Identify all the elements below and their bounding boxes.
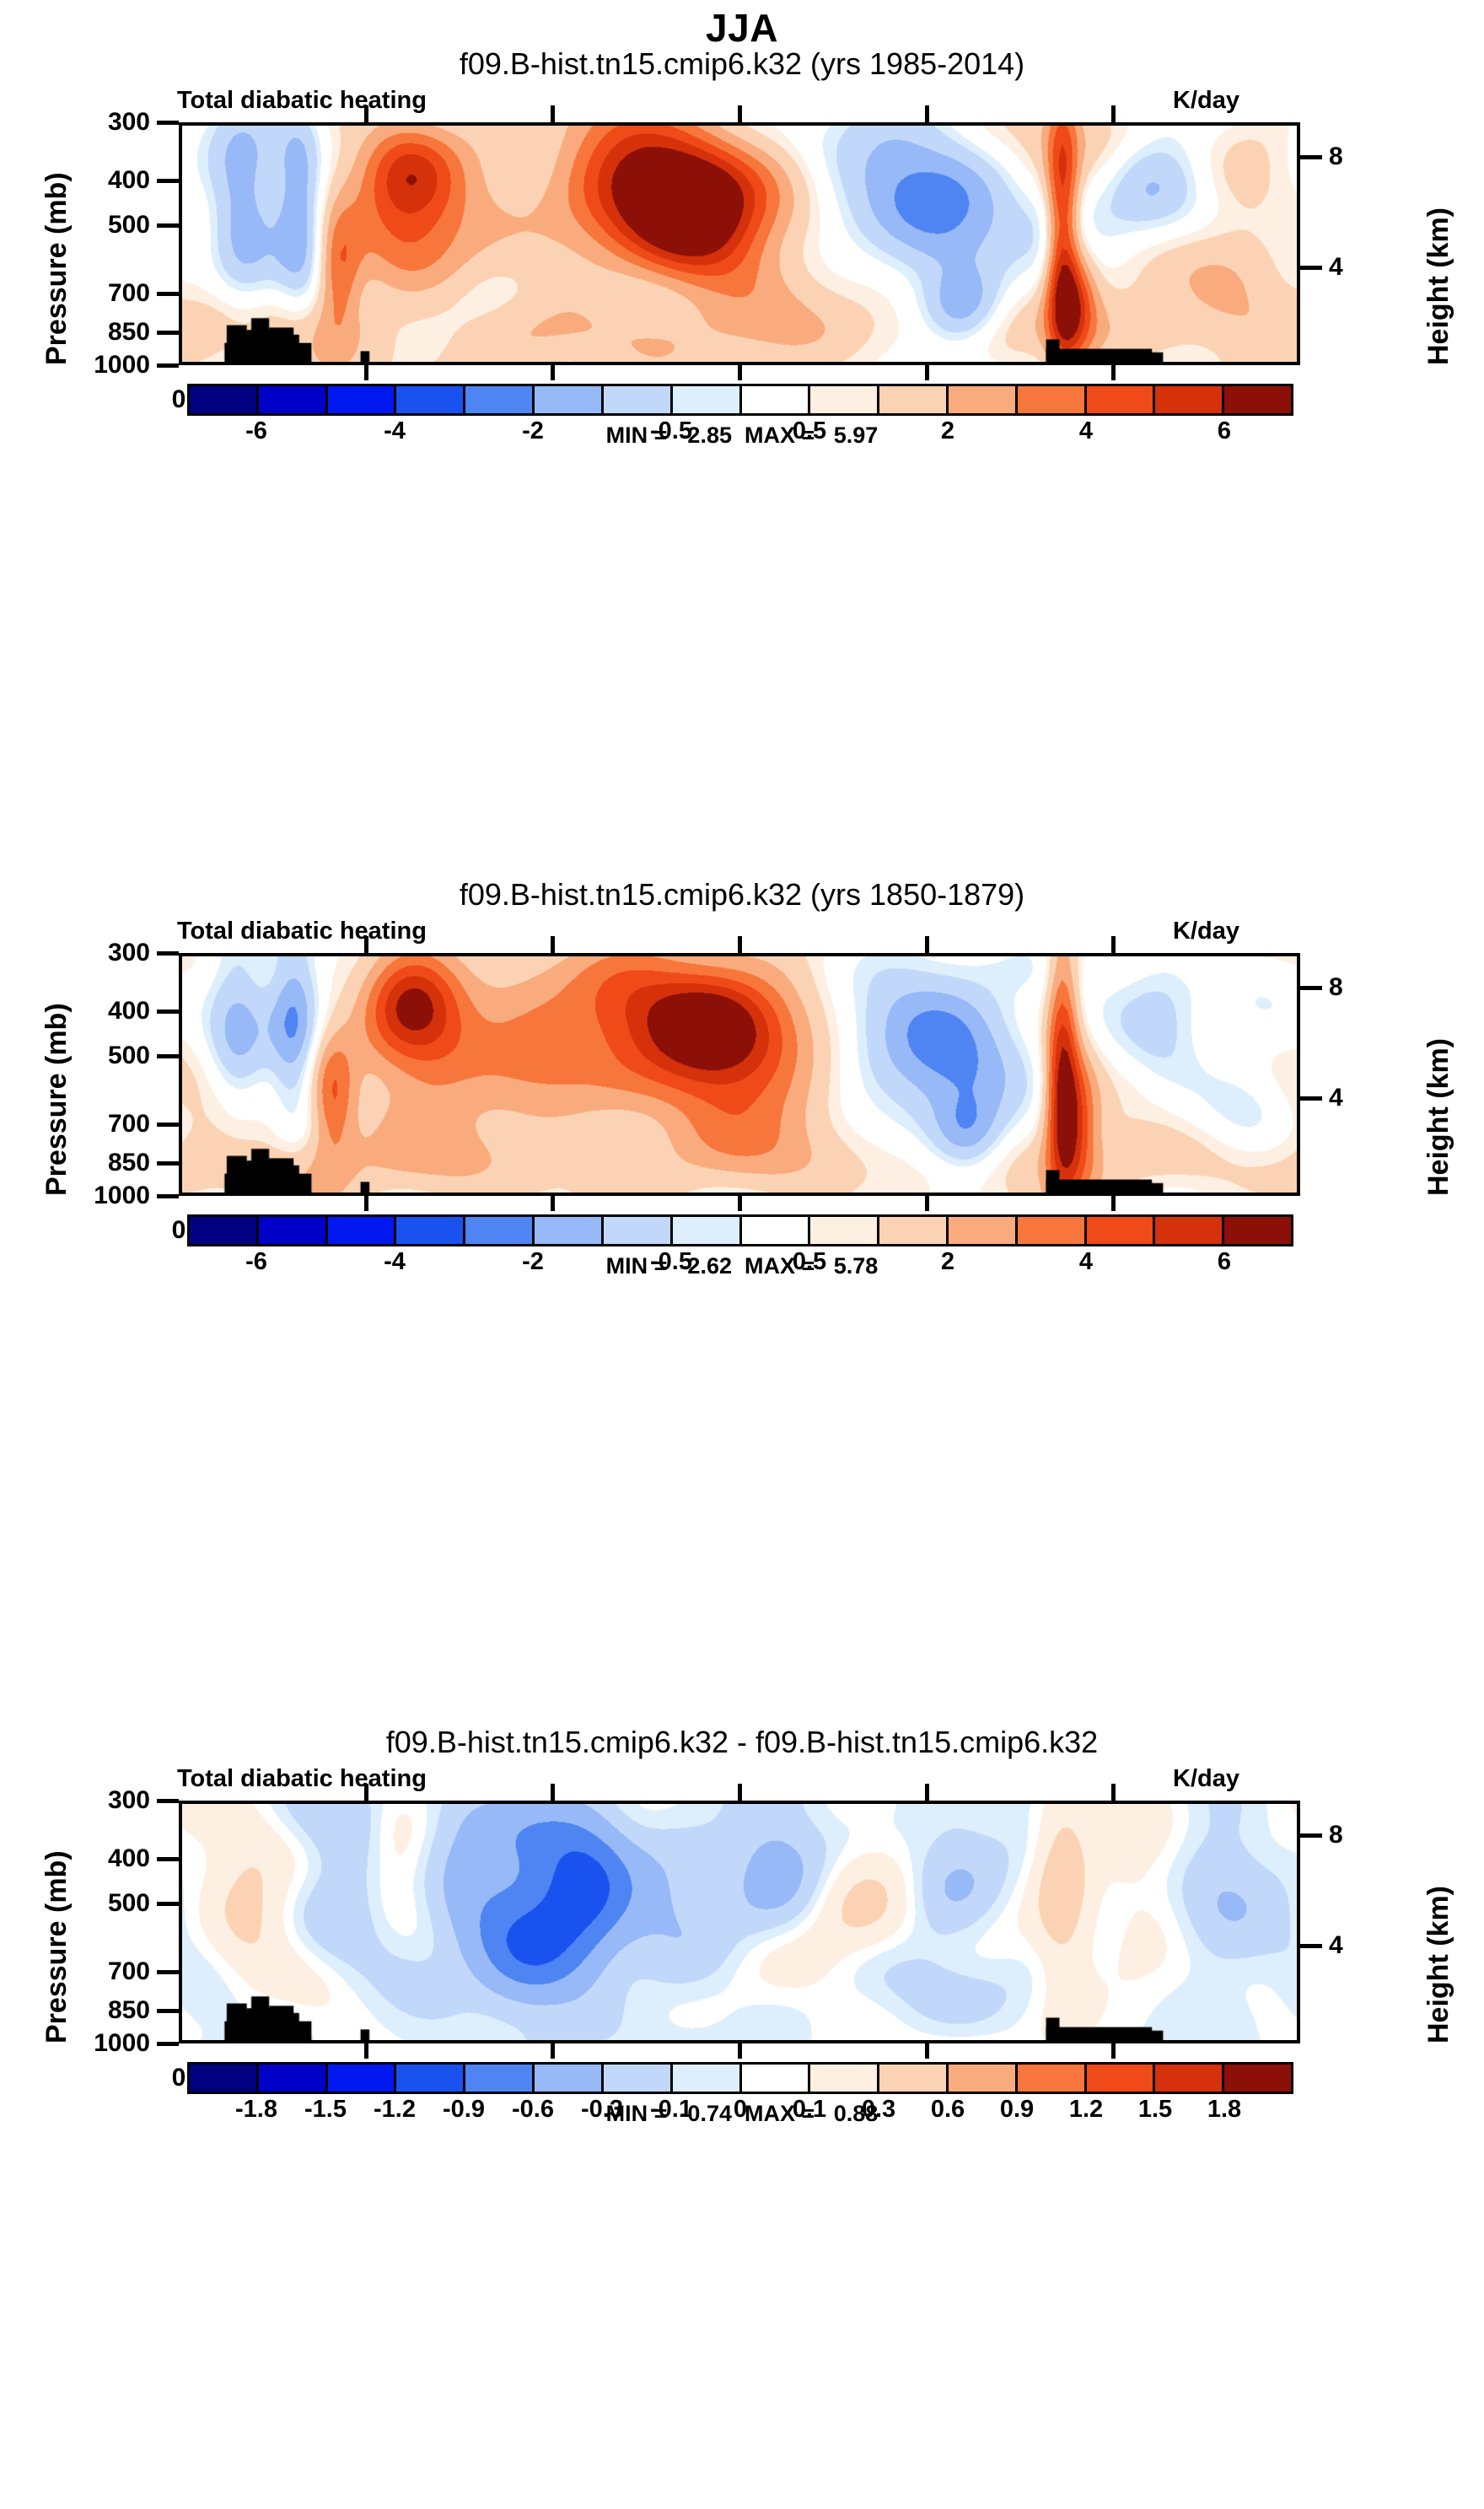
colorbar-tick-label: -4 — [384, 417, 406, 445]
units-label: K/day — [1173, 918, 1239, 945]
colorbar: -6-4-2-0.50.5246 — [187, 384, 1293, 416]
colorbar: -1.8-1.5-1.2-0.9-0.6-0.3-0.100.10.30.60.… — [187, 2062, 1293, 2094]
y-tick-label: 500 — [108, 1042, 150, 1070]
colorbar-tick-label: 0 — [734, 2096, 747, 2124]
y-tick-mark — [157, 1194, 179, 1198]
y-tick-label-right: 4 — [1329, 1931, 1343, 1960]
colorbar-cell — [742, 386, 811, 413]
contour-plot — [179, 1801, 1300, 2043]
colorbar-cell — [1155, 1217, 1224, 1244]
colorbar-cell — [190, 386, 259, 413]
colorbar-cell — [465, 386, 535, 413]
x-tick-mark-top — [925, 1784, 929, 1801]
x-tick-mark-bottom — [738, 2043, 742, 2059]
y-tick-mark-right — [1300, 1096, 1322, 1101]
y-tick-label-right: 8 — [1329, 143, 1343, 171]
colorbar-cell — [604, 1217, 673, 1244]
colorbar-cell — [742, 1217, 811, 1244]
y-axis-title-left: Pressure (mb) — [40, 172, 73, 365]
colorbar-tick-label: -0.9 — [443, 2096, 485, 2124]
colorbar-tick-label: -0.3 — [581, 2096, 623, 2124]
colorbar-cell — [465, 1217, 535, 1244]
figure-title: JJA — [0, 5, 1484, 51]
colorbar-cell — [259, 2065, 328, 2092]
y-tick-mark-right — [1300, 986, 1322, 990]
colorbar-cell — [259, 386, 328, 413]
contour-field — [182, 1804, 1297, 2040]
x-tick-mark-bottom — [364, 1196, 368, 1211]
colorbar-cell — [949, 386, 1018, 413]
units-label: K/day — [1173, 87, 1239, 115]
x-tick-mark-bottom — [551, 365, 555, 380]
y-tick-label: 400 — [108, 166, 150, 195]
contour-field — [182, 956, 1297, 1193]
y-axis-title-right: Height (km) — [1422, 207, 1455, 365]
x-tick-mark-top — [1111, 936, 1116, 953]
colorbar-tick-label: -0.5 — [650, 417, 692, 445]
colorbar: -6-4-2-0.50.5246 — [187, 1214, 1293, 1246]
x-tick-label: 0 — [172, 385, 186, 414]
colorbar-tick-label: -1.2 — [374, 2096, 416, 2124]
x-tick-label: 0 — [172, 1216, 186, 1245]
colorbar-cell — [1224, 386, 1291, 413]
y-tick-mark — [157, 331, 179, 335]
x-tick-mark-top — [925, 936, 929, 953]
field-label: Total diabatic heating — [177, 87, 427, 115]
y-tick-label: 500 — [108, 211, 150, 240]
colorbar-cell — [673, 1217, 742, 1244]
y-tick-label: 700 — [108, 1110, 150, 1139]
panel-title: f09.B-hist.tn15.cmip6.k32 (yrs 1850-1879… — [0, 877, 1484, 913]
contour-plot — [179, 122, 1300, 365]
x-tick-mark-top — [364, 105, 368, 122]
colorbar-cell — [879, 386, 949, 413]
colorbar-cell — [810, 1217, 879, 1244]
x-tick-mark-bottom — [551, 2043, 555, 2059]
colorbar-cell — [673, 2065, 742, 2092]
x-tick-mark-bottom — [551, 1196, 555, 1211]
y-tick-label: 1000 — [94, 351, 150, 380]
x-tick-mark-top — [1111, 1784, 1116, 1801]
colorbar-cell — [190, 1217, 259, 1244]
contour-plot — [179, 953, 1300, 1196]
y-tick-mark — [157, 292, 179, 296]
colorbar-tick-label: 6 — [1218, 417, 1231, 445]
colorbar-cell — [535, 386, 604, 413]
colorbar-tick-label: -1.8 — [235, 2096, 277, 2124]
y-tick-label: 300 — [108, 1786, 150, 1815]
colorbar-cell — [810, 2065, 879, 2092]
x-tick-mark-top — [551, 1784, 555, 1801]
colorbar-tick-label: 0.1 — [793, 2096, 826, 2124]
colorbar-cell — [190, 2065, 259, 2092]
x-tick-mark-bottom — [925, 2043, 929, 2059]
colorbar-cell — [328, 1217, 397, 1244]
y-tick-label: 850 — [108, 1996, 150, 2025]
y-tick-mark-right — [1300, 266, 1322, 270]
panel-title: f09.B-hist.tn15.cmip6.k32 - f09.B-hist.t… — [0, 1725, 1484, 1760]
y-tick-mark-right — [1300, 1944, 1322, 1948]
colorbar-cell — [879, 1217, 949, 1244]
colorbar-cell — [465, 2065, 535, 2092]
y-tick-label: 400 — [108, 1844, 150, 1873]
colorbar-tick-label: 1.5 — [1138, 2096, 1172, 2124]
colorbar-cell — [328, 386, 397, 413]
contour-field — [182, 126, 1297, 362]
colorbar-tick-label: -2 — [522, 417, 544, 445]
y-tick-label: 1000 — [94, 2029, 150, 2058]
colorbar-cell — [1224, 2065, 1291, 2092]
y-tick-mark — [157, 1902, 179, 1906]
y-tick-mark — [157, 223, 179, 228]
y-tick-label: 1000 — [94, 1182, 150, 1210]
colorbar-tick-label: 4 — [1079, 417, 1093, 445]
colorbar-cell — [673, 386, 742, 413]
y-axis-title-left: Pressure (mb) — [40, 1003, 73, 1196]
colorbar-cell — [259, 1217, 328, 1244]
colorbar-cell — [535, 2065, 604, 2092]
x-tick-mark-bottom — [364, 2043, 368, 2059]
colorbar-cell — [1018, 2065, 1087, 2092]
colorbar-cell — [949, 1217, 1018, 1244]
y-tick-mark — [157, 1054, 179, 1058]
colorbar-tick-label: 0.5 — [793, 1248, 826, 1276]
x-tick-mark-top — [551, 936, 555, 953]
y-tick-mark — [157, 363, 179, 368]
colorbar-cell — [1087, 1217, 1156, 1244]
y-tick-label-right: 4 — [1329, 1084, 1343, 1112]
y-tick-mark — [157, 951, 179, 956]
colorbar-cell — [1018, 386, 1087, 413]
x-tick-mark-bottom — [925, 1196, 929, 1211]
colorbar-tick-label: 0.3 — [862, 2096, 895, 2124]
y-tick-label: 850 — [108, 318, 150, 347]
y-tick-mark-right — [1300, 155, 1322, 159]
colorbar-tick-label: -6 — [245, 417, 267, 445]
colorbar-cell — [604, 2065, 673, 2092]
y-tick-label: 850 — [108, 1149, 150, 1177]
y-tick-mark — [157, 179, 179, 183]
colorbar-cell — [535, 1217, 604, 1244]
x-tick-mark-bottom — [738, 1196, 742, 1211]
colorbar-cell — [1224, 1217, 1291, 1244]
y-tick-label: 700 — [108, 1957, 150, 1986]
x-tick-mark-top — [551, 105, 555, 122]
x-tick-mark-top — [364, 936, 368, 953]
colorbar-cell — [396, 1217, 465, 1244]
colorbar-tick-label: -2 — [522, 1248, 544, 1276]
colorbar-cell — [396, 386, 465, 413]
field-label: Total diabatic heating — [177, 1765, 427, 1793]
y-tick-mark — [157, 121, 179, 125]
colorbar-cell — [810, 386, 879, 413]
colorbar-tick-label: -6 — [245, 1248, 267, 1276]
y-tick-mark — [157, 1161, 179, 1166]
colorbar-tick-label: 1.2 — [1069, 2096, 1103, 2124]
x-tick-mark-top — [738, 105, 742, 122]
colorbar-cell — [328, 2065, 397, 2092]
y-tick-label: 500 — [108, 1889, 150, 1918]
y-tick-label: 700 — [108, 279, 150, 308]
x-tick-mark-bottom — [1111, 2043, 1116, 2059]
colorbar-tick-label: -1.5 — [304, 2096, 347, 2124]
colorbar-tick-label: -0.1 — [650, 2096, 692, 2124]
colorbar-tick-label: -4 — [384, 1248, 406, 1276]
x-tick-mark-bottom — [925, 365, 929, 380]
colorbar-tick-label: 1.8 — [1207, 2096, 1241, 2124]
x-tick-mark-top — [364, 1784, 368, 1801]
y-tick-mark — [157, 1857, 179, 1861]
x-tick-mark-top — [925, 105, 929, 122]
y-tick-label-right: 8 — [1329, 973, 1343, 1002]
colorbar-cell — [1087, 2065, 1156, 2092]
x-tick-label: 0 — [172, 2064, 186, 2092]
colorbar-cell — [604, 386, 673, 413]
y-axis-title-right: Height (km) — [1422, 1886, 1455, 2043]
units-label: K/day — [1173, 1765, 1239, 1793]
y-tick-mark-right — [1300, 1833, 1322, 1838]
y-tick-label-right: 4 — [1329, 253, 1343, 282]
colorbar-cell — [396, 2065, 465, 2092]
colorbar-cell — [949, 2065, 1018, 2092]
panel-title: f09.B-hist.tn15.cmip6.k32 (yrs 1985-2014… — [0, 46, 1484, 82]
field-label: Total diabatic heating — [177, 918, 427, 945]
x-tick-mark-bottom — [738, 365, 742, 380]
y-axis-title-left: Pressure (mb) — [40, 1850, 73, 2043]
y-tick-mark — [157, 2009, 179, 2013]
colorbar-cell — [1155, 2065, 1224, 2092]
y-tick-mark — [157, 1010, 179, 1014]
colorbar-cell — [1155, 386, 1224, 413]
colorbar-tick-label: 0.5 — [793, 417, 826, 445]
x-tick-mark-bottom — [1111, 365, 1116, 380]
colorbar-cell — [1087, 386, 1156, 413]
colorbar-tick-label: 4 — [1079, 1248, 1093, 1276]
colorbar-tick-label: 0.6 — [931, 2096, 965, 2124]
y-tick-mark — [157, 1123, 179, 1127]
x-tick-mark-top — [1111, 105, 1116, 122]
x-tick-mark-top — [738, 1784, 742, 1801]
colorbar-tick-label: -0.6 — [512, 2096, 554, 2124]
x-tick-mark-bottom — [364, 365, 368, 380]
colorbar-tick-label: 0.9 — [1000, 2096, 1034, 2124]
y-tick-label-right: 8 — [1329, 1821, 1343, 1849]
x-tick-mark-top — [738, 936, 742, 953]
x-tick-mark-bottom — [1111, 1196, 1116, 1211]
colorbar-cell — [742, 2065, 811, 2092]
y-axis-title-right: Height (km) — [1422, 1038, 1455, 1196]
y-tick-label: 400 — [108, 997, 150, 1026]
colorbar-tick-label: 6 — [1218, 1248, 1231, 1276]
colorbar-cell — [1018, 1217, 1087, 1244]
colorbar-tick-label: 2 — [941, 417, 954, 445]
colorbar-tick-label: -0.5 — [650, 1248, 692, 1276]
y-tick-mark — [157, 1799, 179, 1803]
y-tick-mark — [157, 1970, 179, 1974]
colorbar-tick-label: 2 — [941, 1248, 954, 1276]
y-tick-label: 300 — [108, 108, 150, 137]
y-tick-mark — [157, 2042, 179, 2046]
y-tick-label: 300 — [108, 939, 150, 967]
colorbar-cell — [879, 2065, 949, 2092]
